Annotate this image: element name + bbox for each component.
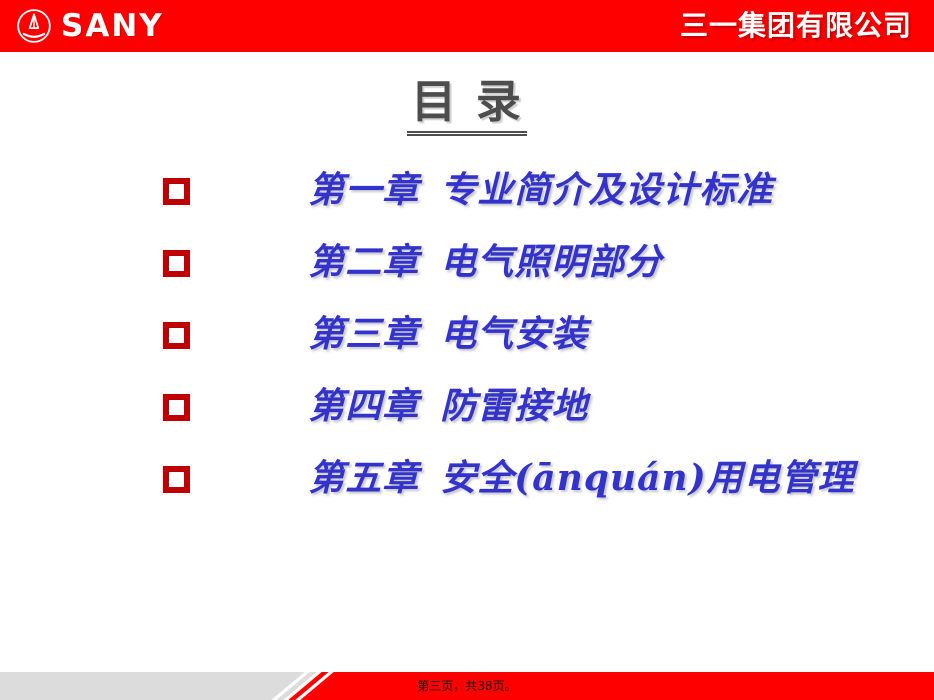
page-title-wrap: 目 录 <box>0 78 934 133</box>
brand-block: SANY <box>16 8 164 44</box>
slide-header-band: SANY 三一集团有限公司 <box>0 0 934 52</box>
red-square-bullet-icon <box>163 394 190 421</box>
company-name: 三一集团有限公司 <box>680 12 912 40</box>
page-title: 目 录 <box>407 78 527 133</box>
slide-footer-band: 第三页，共38页。 <box>0 672 934 700</box>
red-square-bullet-icon <box>163 466 190 493</box>
table-of-contents: 第一章专业简介及设计标准 第二章电气照明部分 第三章电气安装 第四章防雷接地 第… <box>0 155 934 515</box>
toc-chapter-label: 第五章 <box>308 459 440 499</box>
list-item[interactable]: 第五章安全(ānquán)用电管理 <box>0 443 934 515</box>
sany-logo-icon <box>16 8 52 44</box>
toc-chapter-title: 安全(ānquán)用电管理 <box>440 457 854 499</box>
toc-item-text: 第五章安全(ānquán)用电管理 <box>227 420 855 539</box>
page-number-text: 第三页，共38页。 <box>0 672 934 700</box>
red-square-bullet-icon <box>163 250 190 277</box>
red-square-bullet-icon <box>163 178 190 205</box>
red-square-bullet-icon <box>163 322 190 349</box>
brand-wordmark: SANY <box>61 11 164 42</box>
